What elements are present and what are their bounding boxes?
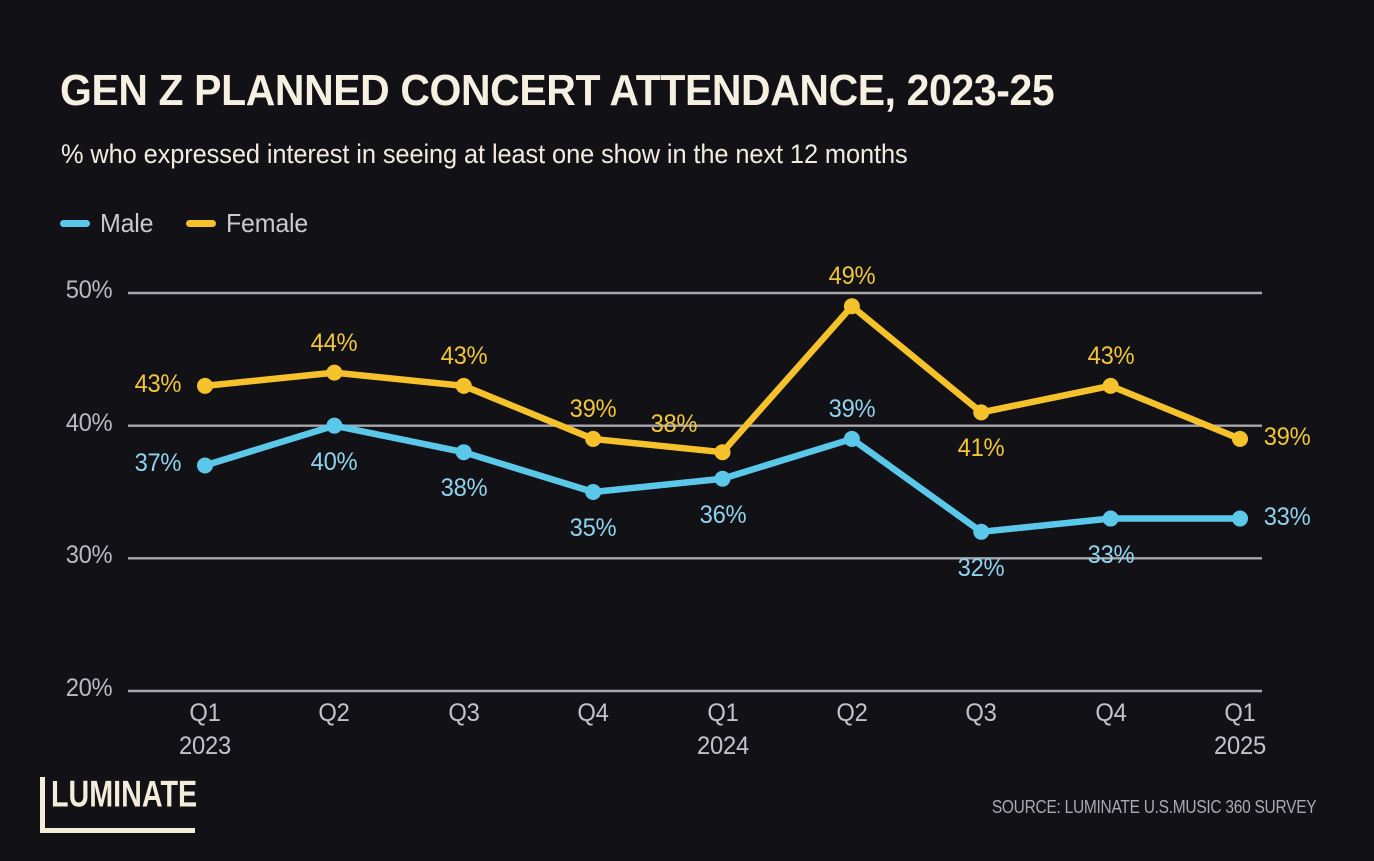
value-label-male-3: 35%	[522, 514, 665, 543]
x-axis-year-2024: 2024	[666, 732, 780, 761]
data-point-male-1[interactable]	[326, 418, 342, 434]
x-axis-year-2023: 2023	[148, 732, 262, 761]
data-point-male-7[interactable]	[1103, 511, 1119, 527]
x-axis-year-2025: 2025	[1183, 732, 1297, 761]
x-axis-tick-8: Q1	[1183, 699, 1297, 728]
value-label-male-6: 32%	[910, 554, 1053, 583]
value-label-female-0: 43%	[39, 370, 182, 399]
value-label-female-2: 43%	[393, 342, 536, 371]
data-point-male-6[interactable]	[973, 524, 989, 540]
data-point-female-7[interactable]	[1103, 378, 1119, 394]
chart-footer: LUMINATE SOURCE: LUMINATE U.S.MUSIC 360 …	[0, 771, 1374, 861]
x-axis-tick-7: Q4	[1054, 699, 1168, 728]
value-label-male-2: 38%	[393, 474, 536, 503]
data-point-female-6[interactable]	[973, 404, 989, 420]
chart-canvas: GEN Z PLANNED CONCERT ATTENDANCE, 2023-2…	[0, 0, 1374, 861]
data-point-female-1[interactable]	[326, 365, 342, 381]
data-point-female-2[interactable]	[456, 378, 472, 394]
luminate-logo: LUMINATE	[40, 777, 195, 833]
x-axis-tick-4: Q1	[666, 699, 780, 728]
value-label-female-7: 43%	[1039, 342, 1182, 371]
data-point-female-8[interactable]	[1232, 431, 1248, 447]
value-label-female-6: 41%	[910, 434, 1053, 463]
value-label-male-4: 36%	[651, 501, 794, 530]
x-axis-tick-2: Q3	[407, 699, 521, 728]
value-label-male-5: 39%	[781, 395, 924, 424]
data-point-male-3[interactable]	[585, 484, 601, 500]
value-label-female-5: 49%	[781, 262, 924, 291]
x-axis-tick-1: Q2	[277, 699, 391, 728]
source-note: SOURCE: LUMINATE U.S.MUSIC 360 SURVEY	[991, 797, 1316, 818]
data-point-male-2[interactable]	[456, 444, 472, 460]
value-label-male-8: 33%	[1264, 503, 1374, 532]
brand-wordmark: LUMINATE	[51, 776, 197, 813]
data-point-female-4[interactable]	[715, 444, 731, 460]
line-chart-plot: 20%30%40%50% Q12023Q2Q3Q4Q12024Q2Q3Q4Q12…	[0, 0, 1374, 861]
y-axis-tick-40: 40%	[13, 409, 113, 438]
data-point-male-4[interactable]	[715, 471, 731, 487]
x-axis-tick-6: Q3	[924, 699, 1038, 728]
value-label-male-1: 40%	[263, 448, 406, 477]
y-axis-tick-30: 30%	[13, 541, 113, 570]
value-label-female-8: 39%	[1264, 423, 1374, 452]
y-axis-tick-50: 50%	[13, 276, 113, 305]
data-point-female-5[interactable]	[844, 298, 860, 314]
data-point-male-5[interactable]	[844, 431, 860, 447]
value-label-male-7: 33%	[1039, 541, 1182, 570]
value-label-male-0: 37%	[39, 449, 182, 478]
x-axis-tick-5: Q2	[795, 699, 909, 728]
x-axis-tick-0: Q1	[148, 699, 262, 728]
value-label-female-1: 44%	[263, 329, 406, 358]
y-axis-tick-20: 20%	[13, 674, 113, 703]
data-point-male-0[interactable]	[197, 457, 213, 473]
data-point-male-8[interactable]	[1232, 511, 1248, 527]
value-label-female-4: 38%	[554, 410, 697, 439]
x-axis-tick-3: Q4	[536, 699, 650, 728]
data-point-female-0[interactable]	[197, 378, 213, 394]
